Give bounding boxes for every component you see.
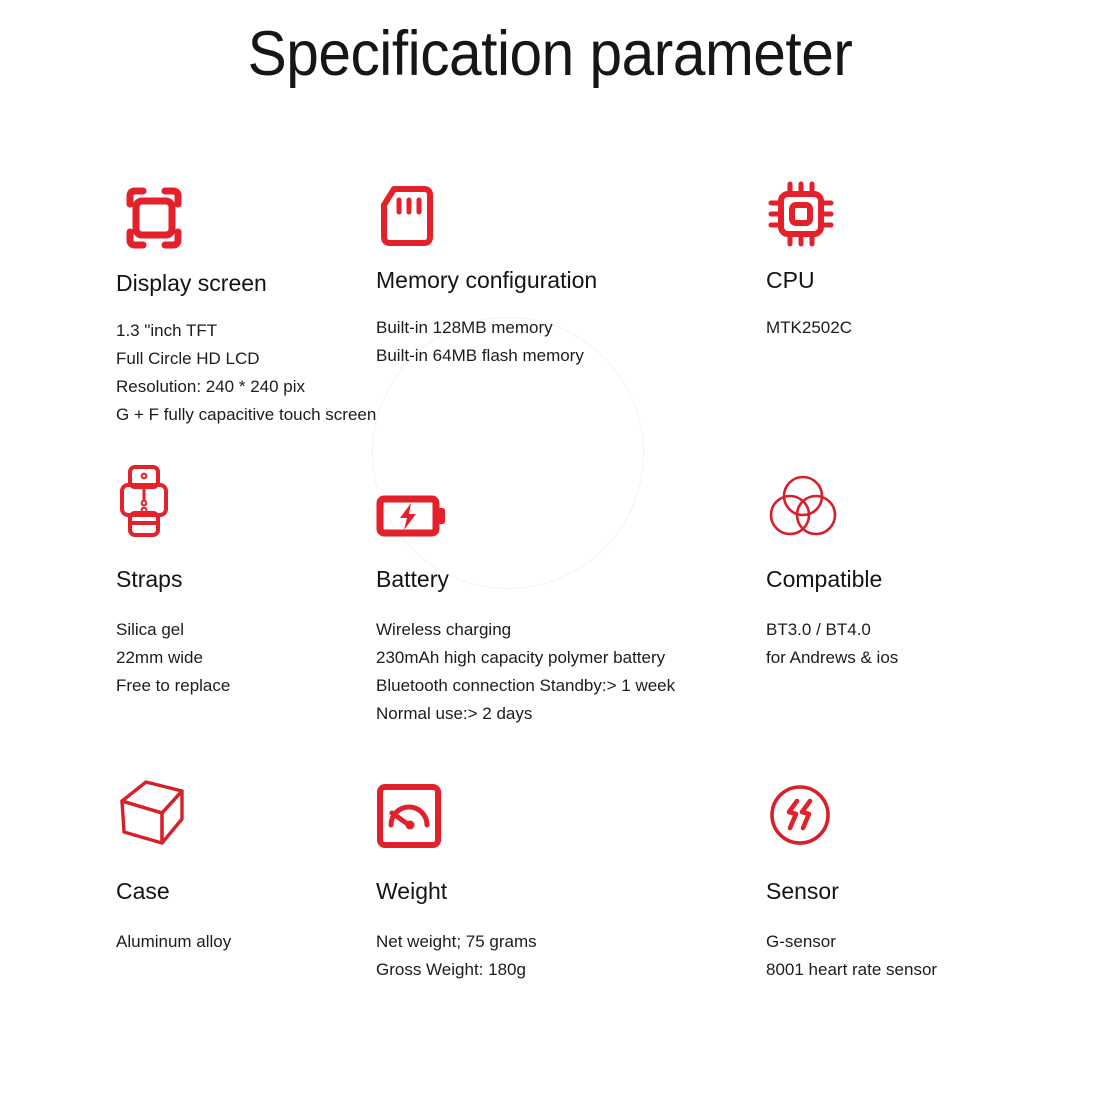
spec-line: 8001 heart rate sensor xyxy=(766,956,1100,984)
display-screen-icon xyxy=(116,175,362,249)
section-title: Sensor xyxy=(766,879,1100,904)
section-title: Case xyxy=(116,879,362,904)
section-title: Memory configuration xyxy=(376,268,728,293)
watch-strap-icon xyxy=(116,465,362,539)
venn-circles-icon xyxy=(766,465,1100,539)
section-title: CPU xyxy=(766,268,1100,293)
box-3d-icon xyxy=(116,775,362,849)
spec-row: Straps Silica gel 22mm wide Free to repl… xyxy=(0,465,1100,775)
spec-line: for Andrews & ios xyxy=(766,644,1100,672)
spec-line: Silica gel xyxy=(116,616,362,644)
specification-page: Specification parameter Display screen 1… xyxy=(0,0,1100,1100)
spec-cell-battery: Battery Wireless charging 230mAh high ca… xyxy=(362,465,728,775)
spec-line: 230mAh high capacity polymer battery xyxy=(376,644,728,672)
sensor-waves-icon xyxy=(766,775,1100,849)
spec-row: Display screen 1.3 "inch TFT Full Circle… xyxy=(0,175,1100,465)
spec-line: G + F fully capacitive touch screen xyxy=(116,401,362,429)
spec-cell-straps: Straps Silica gel 22mm wide Free to repl… xyxy=(0,465,362,775)
spec-cell-weight: Weight Net weight; 75 grams Gross Weight… xyxy=(362,775,728,1005)
section-lines: Net weight; 75 grams Gross Weight: 180g xyxy=(376,928,728,984)
spec-line: MTK2502C xyxy=(766,314,1100,342)
gauge-icon xyxy=(376,775,728,849)
section-lines: Silica gel 22mm wide Free to replace xyxy=(116,616,362,700)
section-title: Display screen xyxy=(116,271,362,296)
spec-line: Gross Weight: 180g xyxy=(376,956,728,984)
spec-line: Built-in 64MB flash memory xyxy=(376,342,728,370)
spec-cell-cpu: CPU MTK2502C xyxy=(728,175,1100,465)
spec-line: Wireless charging xyxy=(376,616,728,644)
memory-card-icon xyxy=(376,175,728,249)
spec-cell-display-screen: Display screen 1.3 "inch TFT Full Circle… xyxy=(0,175,362,465)
spec-line: Net weight; 75 grams xyxy=(376,928,728,956)
battery-charging-icon xyxy=(376,465,728,539)
section-lines: 1.3 "inch TFT Full Circle HD LCD Resolut… xyxy=(116,317,362,429)
spec-cell-compatible: Compatible BT3.0 / BT4.0 for Andrews & i… xyxy=(728,465,1100,775)
section-title: Weight xyxy=(376,879,728,904)
spec-line: BT3.0 / BT4.0 xyxy=(766,616,1100,644)
specification-grid: Display screen 1.3 "inch TFT Full Circle… xyxy=(0,175,1100,1005)
cpu-chip-icon xyxy=(766,175,1100,249)
section-lines: Aluminum alloy xyxy=(116,928,362,956)
spec-line: Built-in 128MB memory xyxy=(376,314,728,342)
spec-line: G-sensor xyxy=(766,928,1100,956)
spec-line: Resolution: 240 * 240 pix xyxy=(116,373,362,401)
section-title: Battery xyxy=(376,567,728,592)
spec-line: Full Circle HD LCD xyxy=(116,345,362,373)
spec-line: Free to replace xyxy=(116,672,362,700)
spec-row: Case Aluminum alloy Weight Net weight; xyxy=(0,775,1100,1005)
spec-cell-sensor: Sensor G-sensor 8001 heart rate sensor xyxy=(728,775,1100,1005)
spec-line: 22mm wide xyxy=(116,644,362,672)
section-lines: G-sensor 8001 heart rate sensor xyxy=(766,928,1100,984)
spec-cell-memory-configuration: Memory configuration Built-in 128MB memo… xyxy=(362,175,728,465)
section-lines: BT3.0 / BT4.0 for Andrews & ios xyxy=(766,616,1100,672)
section-title: Compatible xyxy=(766,567,1100,592)
section-lines: MTK2502C xyxy=(766,314,1100,342)
spec-cell-case: Case Aluminum alloy xyxy=(0,775,362,1005)
page-title: Specification parameter xyxy=(39,18,1062,90)
spec-line: 1.3 "inch TFT xyxy=(116,317,362,345)
section-title: Straps xyxy=(116,567,362,592)
spec-line: Aluminum alloy xyxy=(116,928,362,956)
section-lines: Wireless charging 230mAh high capacity p… xyxy=(376,616,728,728)
spec-line: Bluetooth connection Standby:> 1 week xyxy=(376,672,728,700)
spec-line: Normal use:> 2 days xyxy=(376,700,728,728)
section-lines: Built-in 128MB memory Built-in 64MB flas… xyxy=(376,314,728,370)
